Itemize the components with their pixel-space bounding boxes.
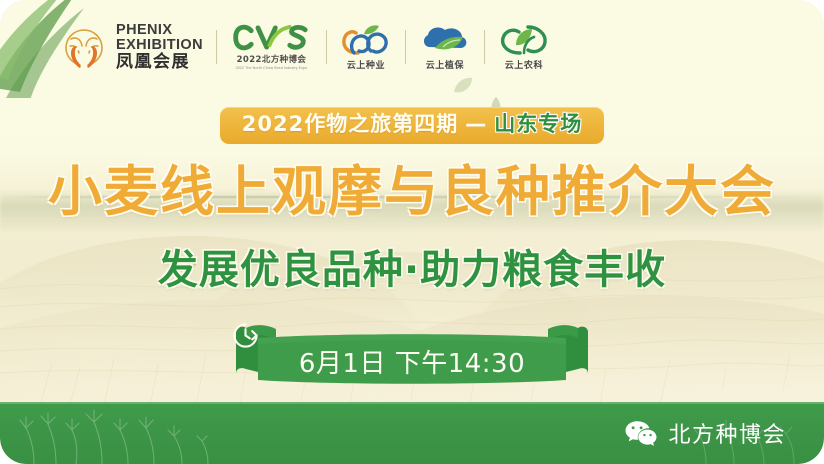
poster-root: PHENIX EXHIBITION 凤凰会展 2022北方种博会 2022 Th…	[0, 0, 824, 464]
badge-dash: —	[458, 114, 494, 135]
wechat-account-group[interactable]: 北方种博会	[625, 417, 786, 449]
footer-lip	[664, 384, 824, 402]
main-title: 小麦线上观摩与良种推介大会	[0, 164, 824, 221]
clock-icon	[232, 322, 259, 349]
phenix-cn-name: 凤凰会展	[116, 54, 203, 71]
footer-bar: 北方种博会	[0, 402, 824, 464]
cloud-seed-mark-icon	[340, 23, 392, 55]
ribbon-datetime-text: 6月1日 下午14:30	[299, 343, 525, 380]
floating-leaf-icon	[452, 76, 474, 96]
cloud-expo-mark-icon	[419, 23, 471, 55]
datetime-ribbon-container: 6月1日 下午14:30	[0, 322, 824, 388]
logo-phenix-exhibition: PHENIX EXHIBITION 凤凰会展	[46, 16, 216, 78]
logo-cloud-seed: 云上种业	[327, 16, 405, 78]
cvs-wordmark-icon	[230, 24, 313, 51]
wechat-icon	[625, 420, 657, 447]
phenix-en-line2: EXHIBITION	[116, 38, 203, 53]
badge-prefix-text: 2022作物之旅第四期	[242, 114, 458, 135]
cvs-sub-en: 2022 The North China Seed Industry Expo	[236, 66, 308, 70]
logo-cloud-agri: 云上农科	[485, 16, 563, 78]
cloud-agri-label: 云上农科	[505, 58, 543, 71]
event-badge: 2022作物之旅第四期 — 山东专场	[220, 107, 604, 144]
datetime-ribbon: 6月1日 下午14:30	[232, 322, 592, 388]
wechat-account-label: 北方种博会	[668, 417, 786, 449]
cloud-seed-label: 云上种业	[347, 58, 385, 71]
phoenix-mark-icon	[61, 24, 107, 70]
cloud-agri-mark-icon	[498, 23, 550, 55]
logo-cloud-expo: 云上植保	[406, 16, 484, 78]
badge-highlight-text: 山东专场	[494, 114, 582, 135]
ribbon-content: 6月1日 下午14:30	[232, 322, 592, 388]
cloud-expo-label: 云上植保	[426, 58, 464, 71]
event-badge-container: 2022作物之旅第四期 — 山东专场	[0, 107, 824, 144]
header-logo-strip: PHENIX EXHIBITION 凤凰会展 2022北方种博会 2022 Th…	[46, 16, 563, 78]
footer-top-highlight	[0, 402, 824, 404]
phenix-en-line1: PHENIX	[116, 23, 203, 38]
cvs-sub-cn: 2022北方种博会	[237, 53, 307, 65]
logo-cvs: 2022北方种博会 2022 The North China Seed Indu…	[217, 16, 326, 78]
sub-title: 发展优良品种·助力粮食丰收	[0, 249, 824, 291]
weed-silhouette-decoration-icon	[10, 406, 220, 464]
